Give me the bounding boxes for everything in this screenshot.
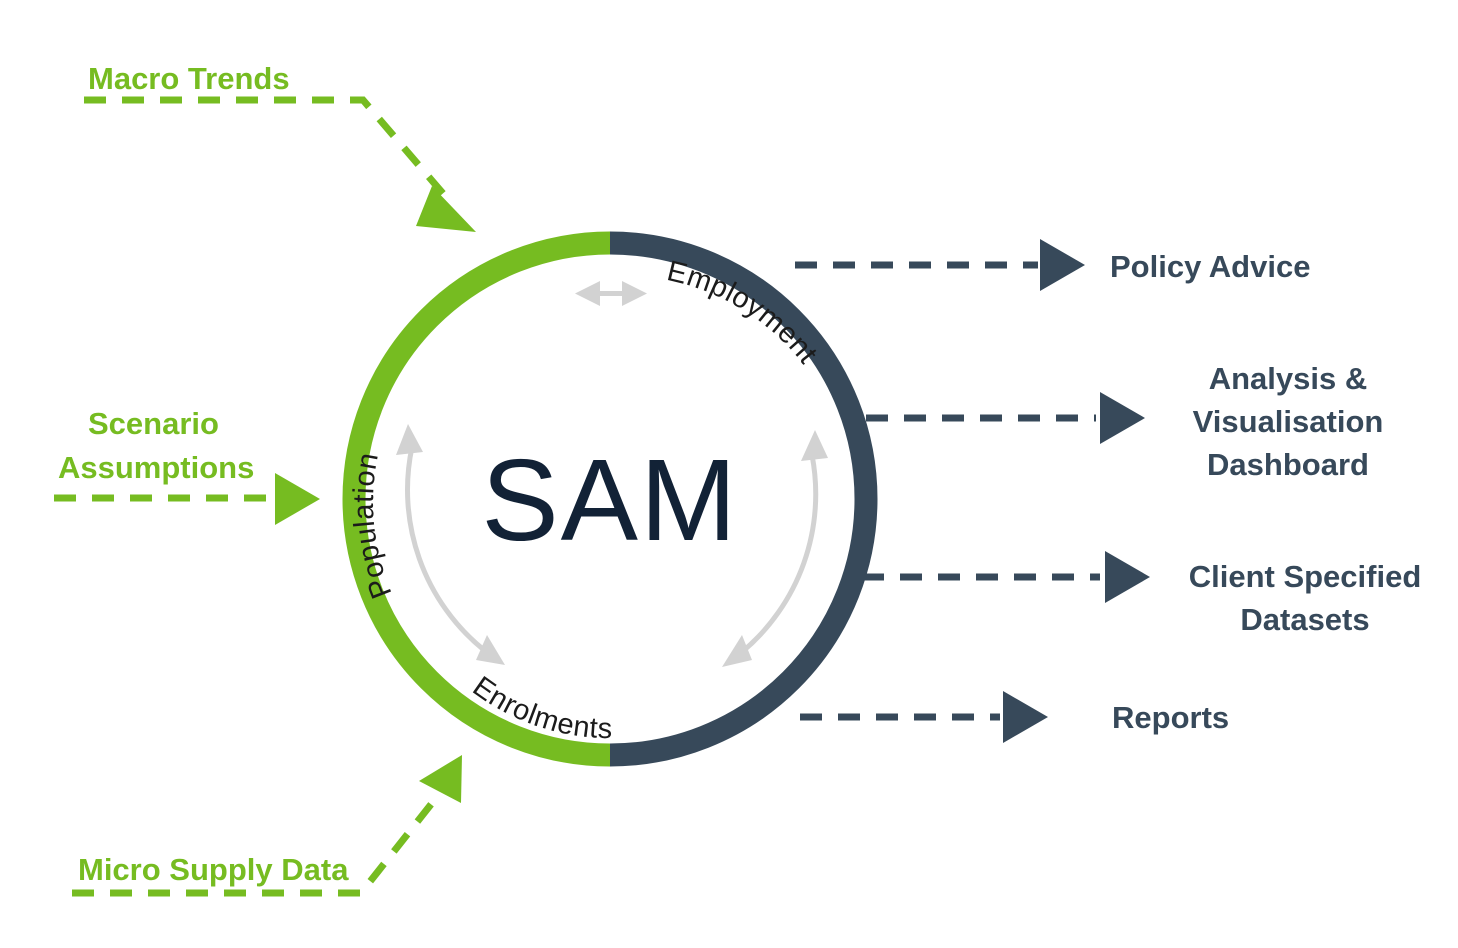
output-policy-advice[interactable]: Policy Advice (795, 239, 1310, 291)
output-analysis-visualisation-dashboard[interactable]: Analysis & Visualisation Dashboard (866, 361, 1383, 482)
output-reports-label: Reports (1112, 700, 1229, 735)
arrow-population-employment-icon (575, 281, 647, 306)
output-analysis-visualisation-dashboard-arrowhead (1100, 392, 1145, 444)
center-label: SAM (481, 435, 738, 565)
input-scenario-assumptions[interactable]: Scenario Assumptions (54, 406, 320, 525)
output-analysis-visualisation-dashboard-label-line2: Visualisation (1193, 404, 1384, 439)
output-reports[interactable]: Reports (800, 691, 1229, 743)
input-micro-supply-data[interactable]: Micro Supply Data (72, 755, 462, 893)
input-scenario-assumptions-label-line2: Assumptions (58, 450, 254, 485)
output-analysis-visualisation-dashboard-label-line1: Analysis & (1209, 361, 1368, 396)
input-macro-trends-label: Macro Trends (88, 61, 290, 96)
input-scenario-assumptions-arrowhead (275, 473, 320, 525)
output-reports-arrowhead (1003, 691, 1048, 743)
output-client-specified-datasets-label-line2: Datasets (1240, 602, 1369, 637)
output-policy-advice-arrowhead (1040, 239, 1085, 291)
input-micro-supply-data-arrowhead (419, 755, 462, 803)
input-macro-trends[interactable]: Macro Trends (84, 61, 476, 232)
input-macro-trends-arrowhead (416, 186, 476, 232)
output-client-specified-datasets-arrowhead (1105, 551, 1150, 603)
sam-flow-diagram: SAM Population Employment Enrolments Mac… (0, 0, 1458, 948)
output-policy-advice-label: Policy Advice (1110, 249, 1310, 284)
input-macro-trends-line (84, 100, 452, 204)
diagram-root: SAM Population Employment Enrolments Mac… (0, 0, 1458, 948)
output-client-specified-datasets-label-line1: Client Specified (1189, 559, 1422, 594)
output-client-specified-datasets[interactable]: Client Specified Datasets (862, 551, 1421, 637)
input-scenario-assumptions-label-line1: Scenario (88, 406, 219, 441)
input-micro-supply-data-label: Micro Supply Data (78, 852, 349, 887)
output-analysis-visualisation-dashboard-label-line3: Dashboard (1207, 447, 1369, 482)
